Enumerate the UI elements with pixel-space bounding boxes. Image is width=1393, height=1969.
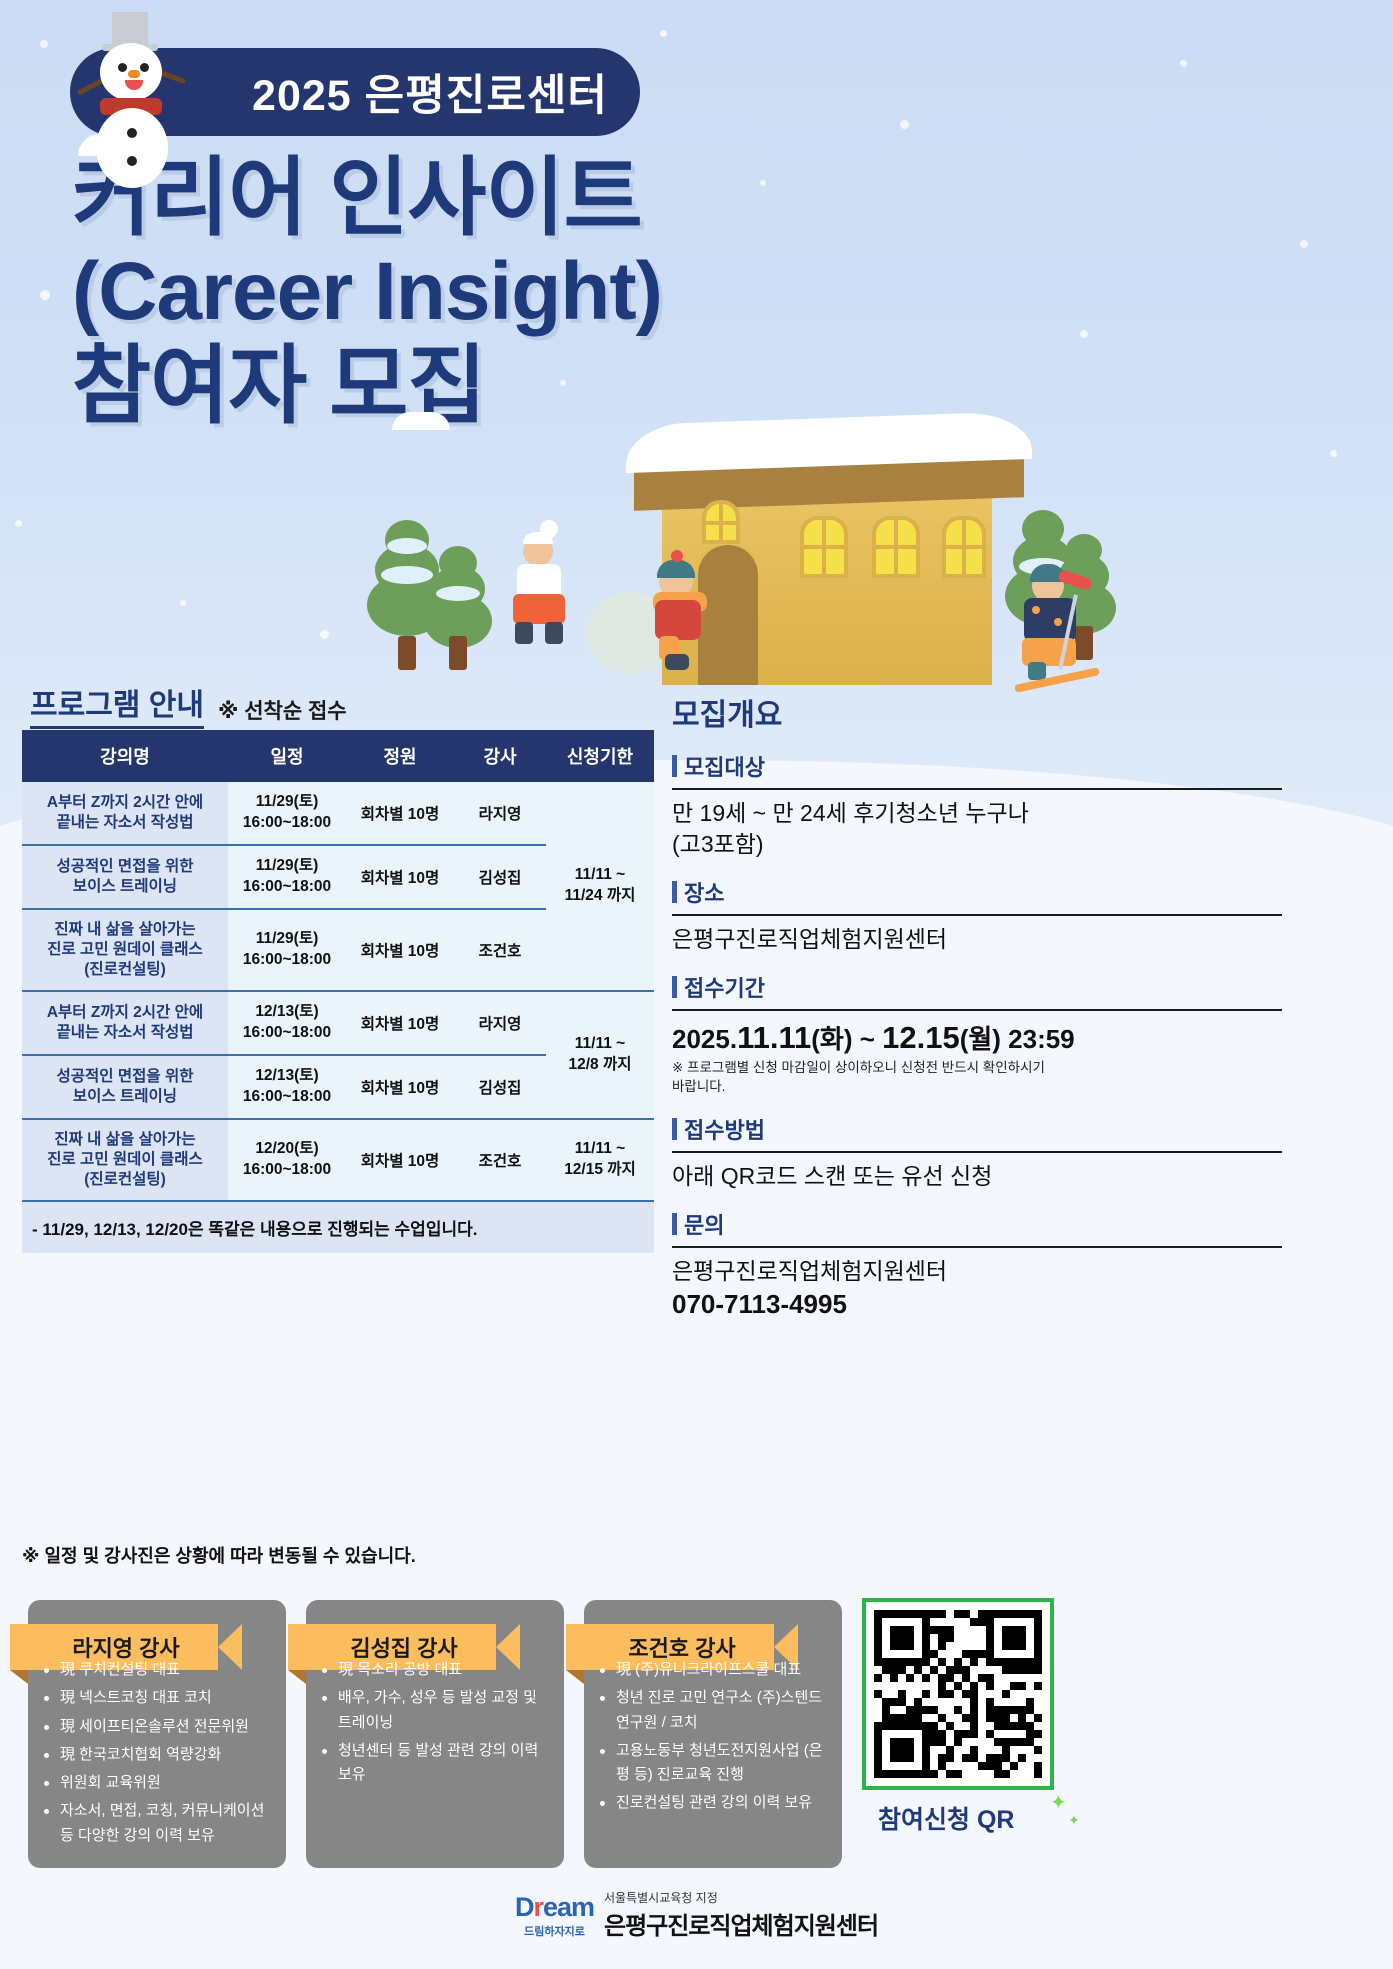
qr-module bbox=[1002, 1658, 1010, 1666]
qr-module bbox=[1018, 1714, 1026, 1722]
qr-module bbox=[986, 1730, 994, 1738]
qr-module bbox=[922, 1770, 930, 1778]
instructor-credentials: 現 쿠치컨설팅 대표現 넥스트코칭 대표 코치現 세이프티온솔루션 전문위원現 … bbox=[42, 1658, 272, 1848]
qr-module bbox=[946, 1642, 954, 1650]
qr-module bbox=[978, 1634, 986, 1642]
qr-module bbox=[1018, 1722, 1026, 1730]
qr-module bbox=[970, 1722, 978, 1730]
qr-module bbox=[898, 1658, 906, 1666]
qr-module bbox=[986, 1682, 994, 1690]
qr-module bbox=[1002, 1714, 1010, 1722]
qr-module bbox=[954, 1770, 962, 1778]
qr-module bbox=[954, 1610, 962, 1618]
qr-module bbox=[970, 1762, 978, 1770]
qr-module bbox=[994, 1690, 1002, 1698]
qr-module bbox=[970, 1650, 978, 1658]
qr-module bbox=[922, 1706, 930, 1714]
qr-module bbox=[890, 1682, 898, 1690]
qr-module bbox=[962, 1738, 970, 1746]
qr-module bbox=[1010, 1642, 1018, 1650]
qr-module bbox=[1018, 1618, 1026, 1626]
snowflake bbox=[15, 520, 22, 527]
qr-module bbox=[938, 1754, 946, 1762]
qr-module bbox=[874, 1618, 882, 1626]
qr-module bbox=[1002, 1618, 1010, 1626]
qr-module bbox=[914, 1658, 922, 1666]
cell-teacher: 라지영 bbox=[454, 991, 546, 1055]
qr-module bbox=[930, 1730, 938, 1738]
qr-module bbox=[898, 1666, 906, 1674]
qr-module bbox=[1018, 1738, 1026, 1746]
qr-module bbox=[978, 1722, 986, 1730]
cell-capacity: 회차별 10명 bbox=[346, 991, 454, 1055]
star-icon: ✦ bbox=[1068, 1812, 1080, 1829]
qr-module bbox=[890, 1706, 898, 1714]
qr-module bbox=[986, 1738, 994, 1746]
instructor-credentials: 現 목소리 공방 대표배우, 가수, 성우 등 발성 교정 및 트레이닝청년센터… bbox=[320, 1658, 550, 1787]
qr-module bbox=[882, 1626, 890, 1634]
qr-module bbox=[962, 1650, 970, 1658]
qr-module bbox=[898, 1690, 906, 1698]
ribbon-fold-icon bbox=[566, 1670, 584, 1684]
recruit-period-note: ※ 프로그램별 신청 마감일이 상이하오니 신청전 반드시 확인하시기 바랍니다… bbox=[672, 1059, 1362, 1097]
qr-module bbox=[938, 1634, 946, 1642]
qr-module bbox=[954, 1754, 962, 1762]
qr-module bbox=[1010, 1634, 1018, 1642]
qr-module bbox=[970, 1714, 978, 1722]
qr-module bbox=[906, 1674, 914, 1682]
qr-module bbox=[1026, 1650, 1034, 1658]
qr-module bbox=[962, 1626, 970, 1634]
qr-module bbox=[914, 1770, 922, 1778]
program-table: 강의명 일정 정원 강사 신청기한 A부터 Z까지 2시간 안에 끝내는 자소서… bbox=[22, 730, 654, 1253]
qr-module bbox=[1034, 1666, 1042, 1674]
qr-module bbox=[874, 1674, 882, 1682]
qr-module bbox=[890, 1610, 898, 1618]
qr-module bbox=[1002, 1722, 1010, 1730]
qr-module bbox=[954, 1706, 962, 1714]
qr-module bbox=[1002, 1666, 1010, 1674]
qr-module bbox=[986, 1746, 994, 1754]
qr-module bbox=[1034, 1722, 1042, 1730]
qr-module bbox=[882, 1690, 890, 1698]
qr-module bbox=[922, 1698, 930, 1706]
qr-module bbox=[962, 1674, 970, 1682]
qr-module bbox=[898, 1634, 906, 1642]
qr-module bbox=[938, 1618, 946, 1626]
qr-module bbox=[1010, 1618, 1018, 1626]
qr-module bbox=[994, 1642, 1002, 1650]
qr-module bbox=[874, 1626, 882, 1634]
qr-module bbox=[978, 1642, 986, 1650]
qr-module bbox=[890, 1690, 898, 1698]
qr-module bbox=[954, 1730, 962, 1738]
cell-schedule: 11/29(토) 16:00~18:00 bbox=[228, 909, 346, 991]
qr-module bbox=[946, 1682, 954, 1690]
qr-module bbox=[994, 1714, 1002, 1722]
qr-module bbox=[994, 1738, 1002, 1746]
list-item: 배우, 가수, 성우 등 발성 교정 및 트레이닝 bbox=[320, 1686, 550, 1735]
qr-module bbox=[1026, 1714, 1034, 1722]
qr-module bbox=[930, 1698, 938, 1706]
qr-module bbox=[922, 1634, 930, 1642]
cell-course-name: A부터 Z까지 2시간 안에 끝내는 자소서 작성법 bbox=[22, 782, 228, 845]
qr-module bbox=[954, 1698, 962, 1706]
qr-module bbox=[1034, 1650, 1042, 1658]
qr-module bbox=[898, 1754, 906, 1762]
qr-module bbox=[930, 1762, 938, 1770]
qr-module bbox=[882, 1722, 890, 1730]
snowflake bbox=[1300, 240, 1308, 248]
qr-module bbox=[930, 1642, 938, 1650]
qr-module bbox=[994, 1634, 1002, 1642]
qr-module bbox=[970, 1746, 978, 1754]
cell-schedule: 12/20(토) 16:00~18:00 bbox=[228, 1119, 346, 1201]
snowflake bbox=[180, 600, 186, 606]
qr-module bbox=[986, 1714, 994, 1722]
qr-module bbox=[994, 1730, 1002, 1738]
qr-module bbox=[930, 1618, 938, 1626]
qr-module bbox=[1010, 1714, 1018, 1722]
qr-module bbox=[1010, 1706, 1018, 1714]
qr-module bbox=[930, 1666, 938, 1674]
qr-module bbox=[898, 1698, 906, 1706]
cell-capacity: 회차별 10명 bbox=[346, 1119, 454, 1201]
qr-module bbox=[874, 1746, 882, 1754]
header-badge-label: 2025 은평진로센터 bbox=[252, 61, 608, 123]
qr-module bbox=[986, 1754, 994, 1762]
qr-module bbox=[970, 1658, 978, 1666]
col-teacher: 강사 bbox=[454, 730, 546, 782]
qr-module bbox=[962, 1618, 970, 1626]
qr-module bbox=[1034, 1610, 1042, 1618]
cell-teacher: 조건호 bbox=[454, 1119, 546, 1201]
qr-module bbox=[986, 1666, 994, 1674]
recruit-method-value: 아래 QR코드 스캔 또는 유선 신청 bbox=[672, 1161, 1362, 1192]
qr-module bbox=[874, 1722, 882, 1730]
qr-module bbox=[938, 1610, 946, 1618]
qr-module bbox=[1026, 1730, 1034, 1738]
qr-module bbox=[930, 1714, 938, 1722]
qr-module bbox=[1002, 1610, 1010, 1618]
qr-module bbox=[962, 1762, 970, 1770]
qr-module bbox=[1034, 1730, 1042, 1738]
qr-module bbox=[954, 1746, 962, 1754]
bar-marker-icon bbox=[672, 976, 677, 998]
qr-module bbox=[890, 1714, 898, 1722]
qr-module bbox=[946, 1658, 954, 1666]
qr-module bbox=[978, 1762, 986, 1770]
qr-module bbox=[922, 1714, 930, 1722]
qr-module bbox=[1010, 1746, 1018, 1754]
qr-module bbox=[1010, 1626, 1018, 1634]
qr-module bbox=[906, 1698, 914, 1706]
qr-module bbox=[906, 1722, 914, 1730]
program-section-header: 프로그램 안내 ※ 선착순 접수 bbox=[30, 680, 347, 729]
qr-module bbox=[978, 1730, 986, 1738]
qr-module bbox=[962, 1666, 970, 1674]
qr-module bbox=[882, 1658, 890, 1666]
instructor-name: 라지영 강사 bbox=[72, 1631, 179, 1663]
qr-module bbox=[1026, 1738, 1034, 1746]
qr-caption: 참여신청 QR bbox=[878, 1800, 1014, 1836]
qr-module bbox=[946, 1770, 954, 1778]
qr-code[interactable] bbox=[862, 1598, 1054, 1790]
qr-module bbox=[1026, 1770, 1034, 1778]
qr-module bbox=[1018, 1730, 1026, 1738]
qr-module bbox=[1034, 1770, 1042, 1778]
col-capacity: 정원 bbox=[346, 730, 454, 782]
qr-module bbox=[882, 1770, 890, 1778]
qr-module bbox=[994, 1754, 1002, 1762]
qr-module bbox=[1002, 1706, 1010, 1714]
list-item: 現 한국코치협회 역량강화 bbox=[42, 1743, 272, 1767]
qr-module bbox=[874, 1642, 882, 1650]
qr-module bbox=[874, 1690, 882, 1698]
footer-org-name: 은평구진로직업체험지원센터 bbox=[604, 1906, 878, 1941]
qr-module bbox=[1034, 1690, 1042, 1698]
qr-module bbox=[922, 1754, 930, 1762]
qr-module bbox=[906, 1746, 914, 1754]
qr-module bbox=[874, 1610, 882, 1618]
qr-module bbox=[1010, 1722, 1018, 1730]
qr-module bbox=[962, 1634, 970, 1642]
qr-module bbox=[946, 1626, 954, 1634]
qr-module bbox=[978, 1706, 986, 1714]
qr-module bbox=[906, 1770, 914, 1778]
qr-module bbox=[1018, 1690, 1026, 1698]
qr-module bbox=[1010, 1754, 1018, 1762]
qr-module bbox=[1010, 1698, 1018, 1706]
qr-module bbox=[946, 1754, 954, 1762]
qr-module bbox=[890, 1674, 898, 1682]
bar-marker-icon bbox=[672, 881, 677, 903]
qr-module bbox=[986, 1706, 994, 1714]
qr-module bbox=[1002, 1754, 1010, 1762]
qr-module bbox=[898, 1770, 906, 1778]
qr-module bbox=[938, 1770, 946, 1778]
qr-module bbox=[1002, 1634, 1010, 1642]
qr-module bbox=[1018, 1634, 1026, 1642]
snowman-icon bbox=[78, 10, 198, 150]
qr-module bbox=[922, 1650, 930, 1658]
qr-module bbox=[954, 1634, 962, 1642]
qr-module bbox=[986, 1618, 994, 1626]
qr-module bbox=[978, 1682, 986, 1690]
qr-module bbox=[954, 1674, 962, 1682]
qr-module bbox=[1018, 1642, 1026, 1650]
qr-module bbox=[922, 1762, 930, 1770]
qr-module bbox=[938, 1666, 946, 1674]
qr-module bbox=[978, 1674, 986, 1682]
col-course-name: 강의명 bbox=[22, 730, 228, 782]
qr-module bbox=[906, 1658, 914, 1666]
qr-module bbox=[1026, 1634, 1034, 1642]
qr-module bbox=[1002, 1682, 1010, 1690]
qr-module bbox=[994, 1666, 1002, 1674]
qr-module bbox=[906, 1730, 914, 1738]
qr-module bbox=[898, 1682, 906, 1690]
recruit-contact-phone: 070-7113-4995 bbox=[672, 1289, 1362, 1320]
qr-module bbox=[954, 1762, 962, 1770]
snowflake bbox=[660, 30, 667, 37]
qr-module bbox=[962, 1698, 970, 1706]
qr-module bbox=[978, 1666, 986, 1674]
skier-icon bbox=[1006, 560, 1106, 690]
qr-module bbox=[1018, 1666, 1026, 1674]
qr-module bbox=[962, 1642, 970, 1650]
list-item: 자소서, 면접, 코칭, 커뮤니케이션 등 다양한 강의 이력 보유 bbox=[42, 1799, 272, 1848]
qr-module bbox=[930, 1706, 938, 1714]
qr-module bbox=[1034, 1674, 1042, 1682]
recruit-title: 모집개요 bbox=[672, 690, 1362, 734]
qr-module bbox=[938, 1714, 946, 1722]
qr-module bbox=[970, 1610, 978, 1618]
qr-module bbox=[882, 1738, 890, 1746]
qr-module bbox=[978, 1690, 986, 1698]
qr-module bbox=[938, 1698, 946, 1706]
table-row: A부터 Z까지 2시간 안에 끝내는 자소서 작성법11/29(토) 16:00… bbox=[22, 782, 654, 845]
qr-module bbox=[914, 1738, 922, 1746]
program-section-note: ※ 선착순 접수 bbox=[218, 695, 347, 729]
qr-module bbox=[922, 1738, 930, 1746]
qr-module bbox=[930, 1650, 938, 1658]
qr-module bbox=[1002, 1690, 1010, 1698]
qr-module bbox=[922, 1674, 930, 1682]
qr-module bbox=[994, 1610, 1002, 1618]
qr-module bbox=[1034, 1682, 1042, 1690]
divider bbox=[672, 1246, 1282, 1248]
divider bbox=[672, 914, 1282, 916]
snowflake bbox=[1330, 450, 1337, 457]
recruit-method-label: 접수방법 bbox=[672, 1113, 1362, 1145]
qr-module bbox=[938, 1762, 946, 1770]
qr-module bbox=[906, 1690, 914, 1698]
qr-module bbox=[914, 1666, 922, 1674]
qr-module bbox=[914, 1698, 922, 1706]
qr-module bbox=[906, 1754, 914, 1762]
qr-module bbox=[978, 1714, 986, 1722]
qr-module bbox=[938, 1658, 946, 1666]
qr-module bbox=[1026, 1610, 1034, 1618]
qr-module bbox=[922, 1746, 930, 1754]
qr-module bbox=[890, 1770, 898, 1778]
qr-module bbox=[1026, 1746, 1034, 1754]
qr-module bbox=[1026, 1666, 1034, 1674]
qr-module bbox=[1018, 1658, 1026, 1666]
qr-module bbox=[954, 1642, 962, 1650]
qr-module bbox=[1010, 1690, 1018, 1698]
qr-module bbox=[914, 1634, 922, 1642]
qr-module bbox=[882, 1618, 890, 1626]
recruit-overview-section: 모집개요 모집대상 만 19세 ~ 만 24세 후기청소년 누구나 (고3포함)… bbox=[672, 690, 1362, 1320]
qr-module bbox=[1018, 1762, 1026, 1770]
qr-module bbox=[898, 1610, 906, 1618]
qr-module bbox=[914, 1754, 922, 1762]
qr-module bbox=[970, 1770, 978, 1778]
bar-marker-icon bbox=[672, 1118, 677, 1140]
qr-module bbox=[970, 1754, 978, 1762]
program-table-body: A부터 Z까지 2시간 안에 끝내는 자소서 작성법11/29(토) 16:00… bbox=[22, 782, 654, 1201]
bar-marker-icon bbox=[672, 755, 677, 777]
recruit-place-label: 장소 bbox=[672, 876, 1362, 908]
recruit-target-value: 만 19세 ~ 만 24세 후기청소년 누구나 (고3포함) bbox=[672, 798, 1362, 860]
qr-module bbox=[994, 1650, 1002, 1658]
qr-module bbox=[1034, 1706, 1042, 1714]
qr-module bbox=[962, 1610, 970, 1618]
qr-module bbox=[1018, 1770, 1026, 1778]
qr-module bbox=[970, 1730, 978, 1738]
footer-org-block: 서울특별시교육청 지정 은평구진로직업체험지원센터 bbox=[604, 1889, 878, 1941]
instructor-card: 라지영 강사現 쿠치컨설팅 대표現 넥스트코칭 대표 코치現 세이프티온솔루션 … bbox=[28, 1600, 286, 1868]
title-line-2: (Career Insight) bbox=[72, 246, 662, 338]
divider bbox=[672, 1009, 1282, 1011]
qr-module bbox=[938, 1674, 946, 1682]
qr-module bbox=[914, 1706, 922, 1714]
qr-module bbox=[954, 1658, 962, 1666]
qr-module bbox=[970, 1698, 978, 1706]
cell-course-name: 성공적인 면접을 위한 보이스 트레이닝 bbox=[22, 1055, 228, 1119]
qr-module bbox=[898, 1714, 906, 1722]
qr-module bbox=[898, 1626, 906, 1634]
qr-module bbox=[970, 1634, 978, 1642]
qr-module bbox=[906, 1738, 914, 1746]
qr-module bbox=[1010, 1730, 1018, 1738]
qr-module bbox=[1018, 1674, 1026, 1682]
qr-module bbox=[914, 1690, 922, 1698]
cell-deadline: 11/11 ~ 12/8 까지 bbox=[546, 991, 654, 1119]
qr-module bbox=[978, 1746, 986, 1754]
qr-module bbox=[994, 1682, 1002, 1690]
qr-module bbox=[890, 1618, 898, 1626]
qr-module bbox=[954, 1626, 962, 1634]
qr-module bbox=[994, 1770, 1002, 1778]
qr-module bbox=[1002, 1650, 1010, 1658]
snowflake bbox=[900, 120, 909, 129]
qr-module bbox=[930, 1674, 938, 1682]
qr-module bbox=[946, 1690, 954, 1698]
qr-module bbox=[954, 1722, 962, 1730]
qr-module bbox=[946, 1674, 954, 1682]
program-footer-note: ※ 일정 및 강사진은 상황에 따라 변동될 수 있습니다. bbox=[22, 1542, 416, 1568]
qr-module bbox=[986, 1762, 994, 1770]
kid-throwing-snowball-icon bbox=[505, 536, 575, 646]
poster-root: 2025 은평진로센터 커리어 인사이트 (Career Insight) 참여… bbox=[0, 0, 1393, 1969]
qr-module bbox=[890, 1754, 898, 1762]
cell-deadline: 11/11 ~ 12/15 까지 bbox=[546, 1119, 654, 1201]
qr-module bbox=[898, 1650, 906, 1658]
cell-capacity: 회차별 10명 bbox=[346, 909, 454, 991]
qr-module bbox=[946, 1666, 954, 1674]
list-item: 청년 진로 고민 연구소 (주)스텐드 연구원 / 코치 bbox=[598, 1686, 828, 1735]
qr-module bbox=[978, 1618, 986, 1626]
col-schedule: 일정 bbox=[228, 730, 346, 782]
qr-module bbox=[882, 1754, 890, 1762]
snowflake bbox=[760, 180, 766, 186]
qr-module bbox=[890, 1698, 898, 1706]
instructor-card: 김성집 강사現 목소리 공방 대표배우, 가수, 성우 등 발성 교정 및 트레… bbox=[306, 1600, 564, 1868]
snowflake bbox=[40, 40, 48, 48]
qr-module bbox=[994, 1658, 1002, 1666]
qr-module bbox=[954, 1714, 962, 1722]
qr-module bbox=[1002, 1746, 1010, 1754]
qr-module bbox=[1034, 1658, 1042, 1666]
qr-module bbox=[922, 1626, 930, 1634]
qr-module bbox=[986, 1650, 994, 1658]
qr-module bbox=[882, 1682, 890, 1690]
qr-module bbox=[938, 1722, 946, 1730]
qr-module bbox=[1026, 1698, 1034, 1706]
